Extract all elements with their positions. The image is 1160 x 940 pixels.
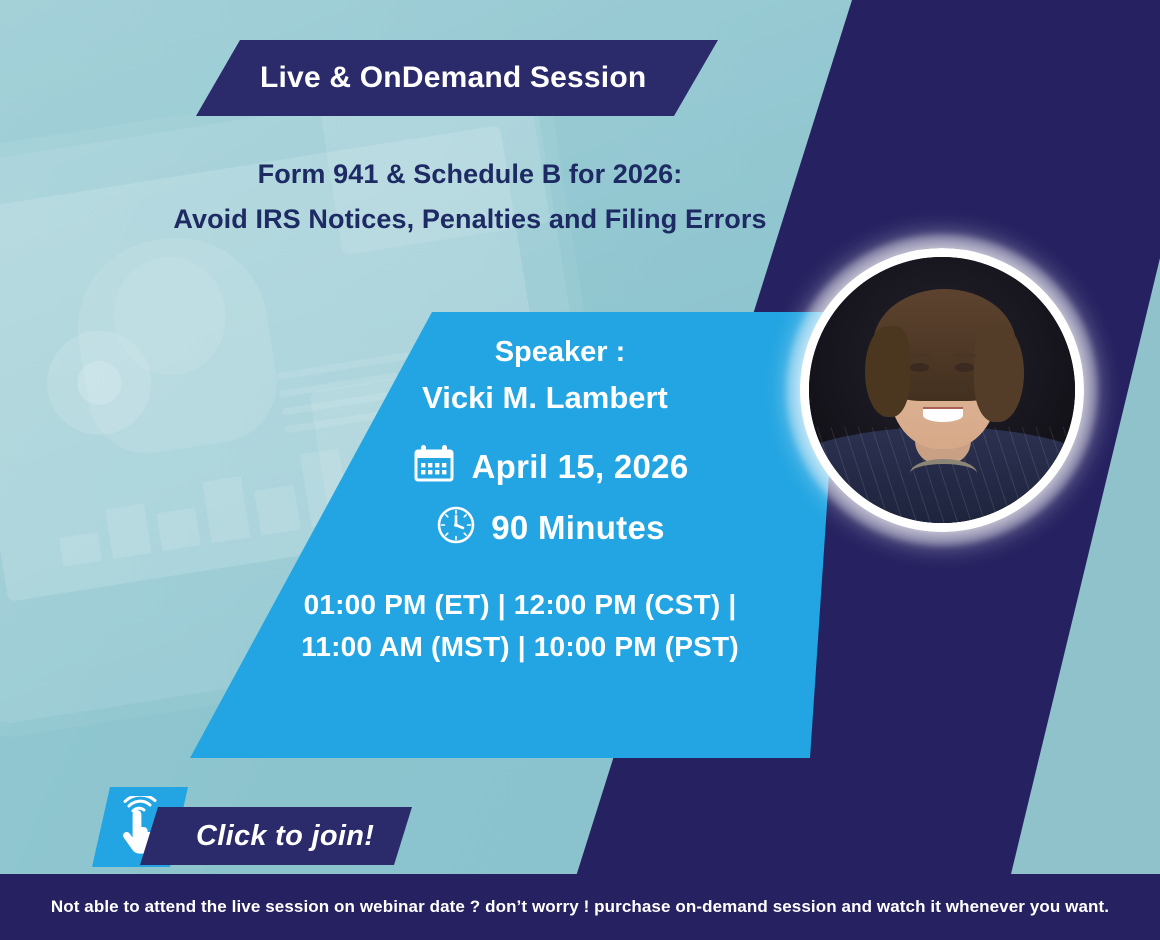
click-to-join-label: Click to join! <box>196 820 374 853</box>
portrait-image <box>809 257 1075 523</box>
footer-text: Not able to attend the live session on w… <box>51 897 1109 917</box>
date-row: April 15, 2026 <box>340 442 760 491</box>
click-to-join-button[interactable]: Click to join! <box>140 807 412 865</box>
webinar-title: Form 941 & Schedule B for 2026: Avoid IR… <box>150 156 790 237</box>
webinar-title-line1: Form 941 & Schedule B for 2026: <box>150 156 790 193</box>
speaker-photo <box>800 248 1084 532</box>
timezones-line2: 11:00 AM (MST) | 10:00 PM (PST) <box>260 626 780 668</box>
session-date: April 15, 2026 <box>472 448 689 486</box>
speaker-label: Speaker : <box>370 336 750 369</box>
session-duration: 90 Minutes <box>491 509 665 547</box>
timezones-line1: 01:00 PM (ET) | 12:00 PM (CST) | <box>260 584 780 626</box>
timezones: 01:00 PM (ET) | 12:00 PM (CST) | 11:00 A… <box>260 584 780 668</box>
footer-bar: Not able to attend the live session on w… <box>0 874 1160 940</box>
speaker-name: Vicki M. Lambert <box>340 380 750 416</box>
calendar-icon <box>412 442 456 491</box>
clock-icon <box>435 504 477 551</box>
webinar-title-line2: Avoid IRS Notices, Penalties and Filing … <box>150 201 790 238</box>
webinar-promo-banner: Live & OnDemand Session Form 941 & Sched… <box>0 0 1160 940</box>
live-ondemand-banner: Live & OnDemand Session <box>196 40 718 116</box>
duration-row: 90 Minutes <box>340 504 760 551</box>
live-ondemand-label: Live & OnDemand Session <box>260 61 646 95</box>
